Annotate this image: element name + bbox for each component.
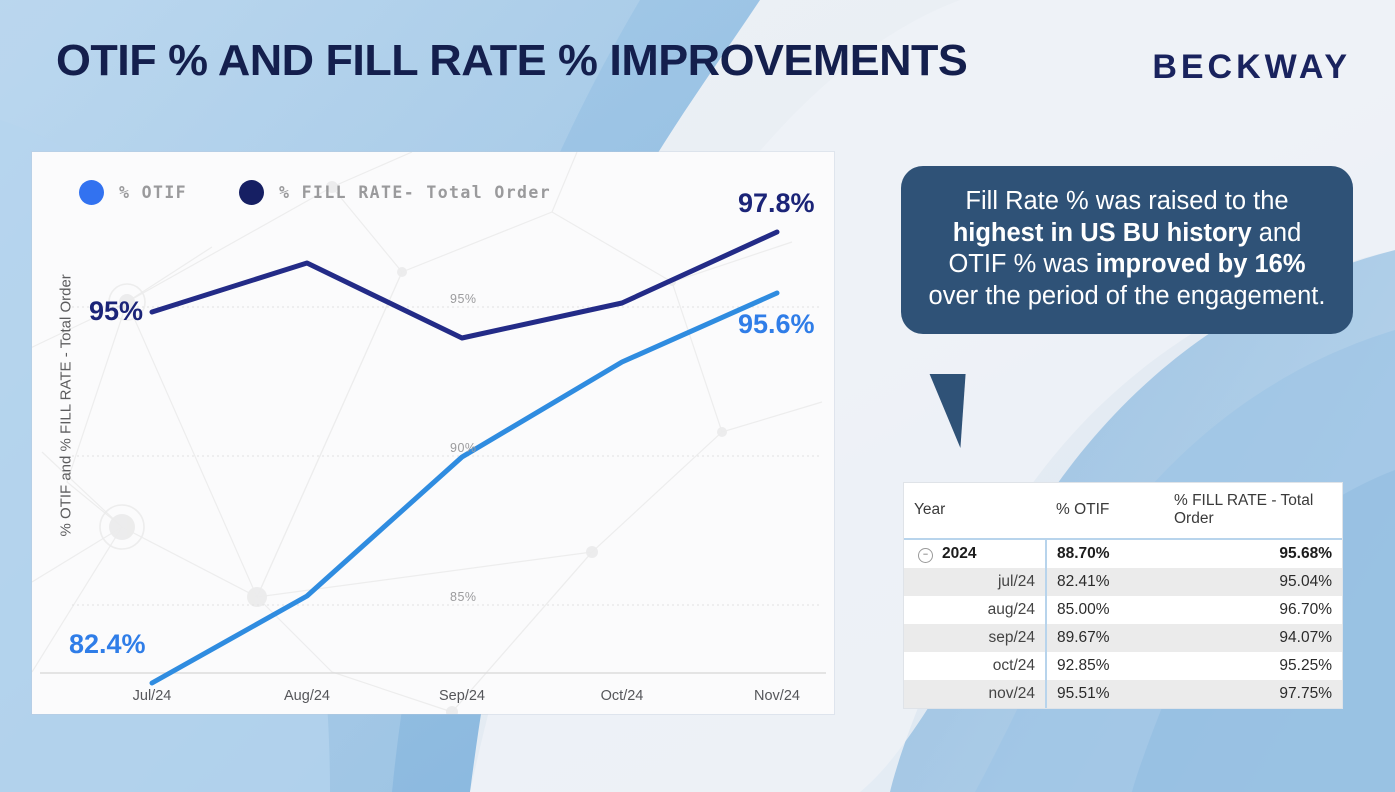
callout-line-3-bold: history [1167, 219, 1252, 247]
cell-fill-total: 95.68% [1164, 539, 1342, 568]
callout-tail [902, 374, 965, 448]
cell-fill: 95.25% [1164, 652, 1342, 680]
cell-fill: 97.75% [1164, 680, 1342, 708]
table-row[interactable]: aug/24 85.00% 96.70% [904, 596, 1342, 624]
table-body: −2024 88.70% 95.68% jul/24 82.41% 95.04%… [904, 539, 1342, 708]
cell-year: aug/24 [904, 596, 1046, 624]
cell-otif: 95.51% [1046, 680, 1164, 708]
table-row[interactable]: nov/24 95.51% 97.75% [904, 680, 1342, 708]
callout-line-4-bold: improved by 16% [1096, 250, 1306, 278]
cell-fill: 96.70% [1164, 596, 1342, 624]
data-label-otif-end: 95.6% [738, 309, 815, 340]
data-table: Year % OTIF % FILL RATE - Total Order −2… [903, 482, 1343, 709]
table-row[interactable]: oct/24 92.85% 95.25% [904, 652, 1342, 680]
gridline-label-95: 95% [450, 292, 477, 306]
callout-line-4-plain: over the [929, 282, 1021, 310]
page-title: OTIF % AND FILL RATE % IMPROVEMENTS [56, 36, 967, 86]
callout-line-2-bold: highest in US BU [953, 219, 1160, 247]
callout-line-2-plain: the [1253, 187, 1288, 215]
column-header-year[interactable]: Year [904, 483, 1046, 539]
column-header-otif[interactable]: % OTIF [1046, 483, 1164, 539]
series-line-otif [152, 293, 777, 683]
x-tick-label-oct: Oct/24 [601, 688, 644, 704]
data-label-fill-rate-start: 95% [89, 296, 143, 327]
gridline-label-85: 85% [450, 590, 477, 604]
table-row[interactable]: jul/24 82.41% 95.04% [904, 568, 1342, 596]
brand-logo: BECKWAY [1152, 48, 1351, 87]
chart-panel: % OTIF and % FILL RATE - Total Order % O… [32, 152, 834, 714]
cell-year: oct/24 [904, 652, 1046, 680]
chart-svg [32, 152, 834, 714]
x-tick-label-sep: Sep/24 [439, 688, 485, 704]
cell-year: sep/24 [904, 624, 1046, 652]
x-tick-label-nov: Nov/24 [754, 688, 800, 704]
cell-otif: 92.85% [1046, 652, 1164, 680]
callout-line-1: Fill Rate % was raised to [965, 187, 1246, 215]
cell-year: nov/24 [904, 680, 1046, 708]
x-tick-label-jul: Jul/24 [133, 688, 172, 704]
series-line-fill-rate [152, 232, 777, 338]
callout-bubble: Fill Rate % was raised to the highest in… [901, 166, 1353, 334]
cell-otif: 89.67% [1046, 624, 1164, 652]
table-row[interactable]: sep/24 89.67% 94.07% [904, 624, 1342, 652]
cell-otif: 82.41% [1046, 568, 1164, 596]
cell-otif: 85.00% [1046, 596, 1164, 624]
cell-year: jul/24 [904, 568, 1046, 596]
chart-gridlines [72, 307, 822, 605]
chart-plot-area: 95% 90% 85% Jul/24 Aug/24 Sep/24 Oct/24 … [32, 152, 834, 714]
column-header-fill-rate[interactable]: % FILL RATE - Total Order [1164, 483, 1342, 539]
x-tick-label-aug: Aug/24 [284, 688, 330, 704]
cell-year-total-text: 2024 [942, 545, 976, 562]
table-row-total[interactable]: −2024 88.70% 95.68% [904, 539, 1342, 568]
gridline-label-90: 90% [450, 441, 477, 455]
callout-line-5: period of the engagement. [1028, 282, 1326, 310]
table-header: Year % OTIF % FILL RATE - Total Order [904, 483, 1342, 539]
collapse-toggle-icon[interactable]: − [918, 548, 933, 563]
cell-fill: 95.04% [1164, 568, 1342, 596]
data-label-otif-start: 82.4% [69, 629, 146, 660]
data-label-fill-rate-end: 97.8% [738, 188, 815, 219]
cell-fill: 94.07% [1164, 624, 1342, 652]
cell-otif-total: 88.70% [1046, 539, 1164, 568]
cell-year-total: −2024 [904, 539, 1046, 568]
table-header-row: Year % OTIF % FILL RATE - Total Order [904, 483, 1342, 539]
